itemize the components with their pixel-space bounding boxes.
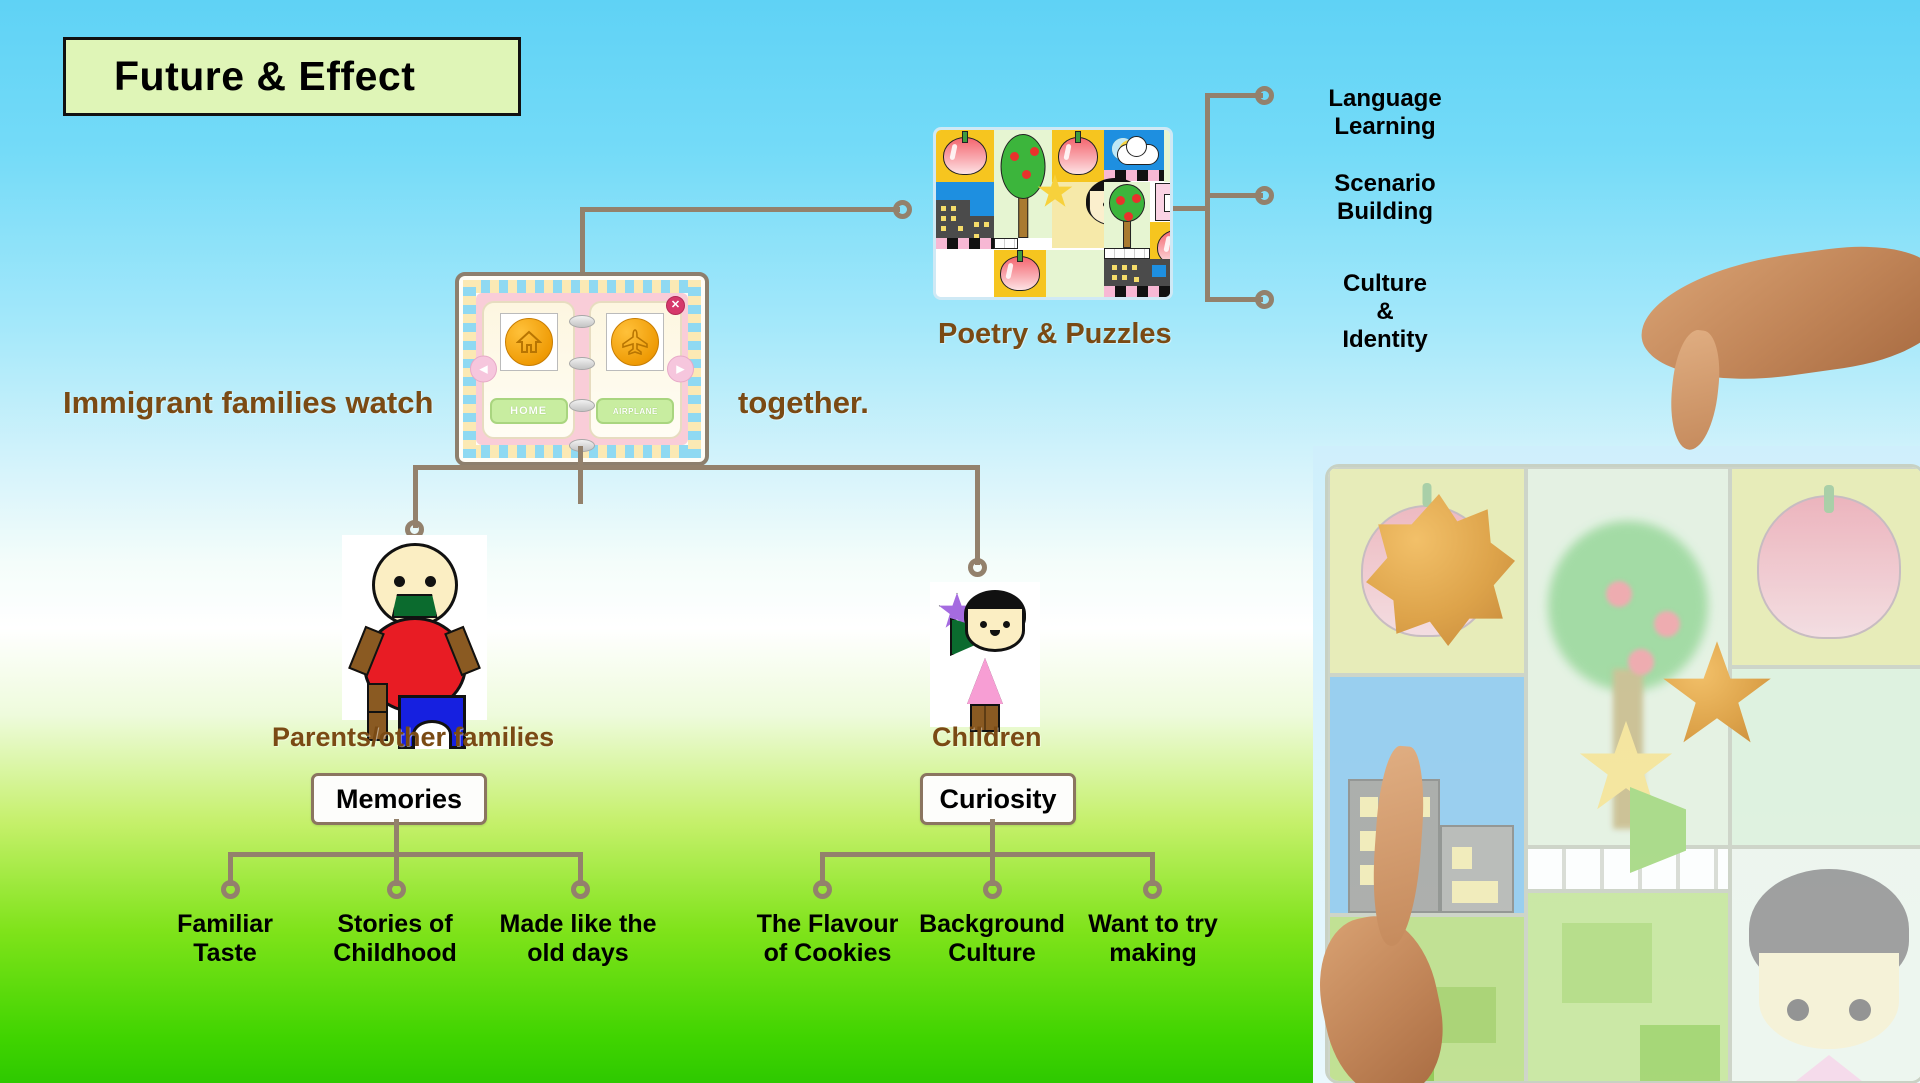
puzzle-road-1 xyxy=(936,238,994,249)
connector-parents-stem xyxy=(413,465,418,528)
connector-dot-cur-1 xyxy=(813,880,832,899)
photo-cell-green-2 xyxy=(1526,891,1730,1083)
outcome-culture-identity: Culture & Identity xyxy=(1305,270,1465,354)
connector-dot-cur-2 xyxy=(983,880,1002,899)
curiosity-leaf-2: Background Culture xyxy=(912,910,1072,969)
book-border-top xyxy=(463,280,701,293)
memories-node[interactable]: Memories xyxy=(311,773,487,825)
photo-cell-tree xyxy=(1526,467,1730,847)
puzzle-tile-apple-1 xyxy=(936,130,994,182)
puzzle-tile-apple-4 xyxy=(994,250,1046,297)
home-card-label: HOME xyxy=(490,398,568,424)
connector-dot-mem-2 xyxy=(387,880,406,899)
connector-dot-puzzle xyxy=(893,200,912,219)
outcome-language-learning: Language Learning xyxy=(1305,85,1465,141)
connector-memories-bar xyxy=(228,852,582,857)
home-icon xyxy=(505,318,553,366)
sentence-right: together. xyxy=(738,385,869,421)
puzzle-tile-crossing-2 xyxy=(994,238,1018,250)
photo-cell-crossing xyxy=(1526,847,1730,891)
puzzle-tile-city-right xyxy=(1104,259,1173,297)
parent-leg-upper xyxy=(367,683,388,713)
connector-dot-outcome-2 xyxy=(1255,186,1274,205)
curiosity-node[interactable]: Curiosity xyxy=(920,773,1076,825)
children-label: Children xyxy=(932,722,1042,753)
memories-leaf-1: Familiar Taste xyxy=(150,910,300,969)
memories-label: Memories xyxy=(336,784,462,815)
puzzle-tile-white xyxy=(936,249,994,297)
book-inner-page: HOME AIRPLANE ◀ xyxy=(476,293,688,445)
photo-cell-kid xyxy=(1730,847,1920,1083)
picture-book-illustration[interactable]: HOME AIRPLANE ◀ xyxy=(455,272,709,466)
page-title: Future & Effect xyxy=(66,53,415,100)
puzzle-tile-house xyxy=(1150,182,1173,222)
cookie-activity-photo xyxy=(1313,446,1920,1083)
page-title-box: Future & Effect xyxy=(63,37,521,116)
photo-cell-green xyxy=(1730,667,1920,847)
connector-book-down xyxy=(578,446,583,504)
book-prev-button[interactable]: ◀ xyxy=(470,356,497,383)
connector-dot-outcome-1 xyxy=(1255,86,1274,105)
child-head xyxy=(964,590,1028,638)
chevron-right-icon: ▶ xyxy=(676,363,684,376)
connector-dot-mem-1 xyxy=(221,880,240,899)
connector-curiosity-stem xyxy=(990,819,995,852)
connector-branch-bar xyxy=(413,465,979,470)
parents-figure-card xyxy=(342,535,487,720)
parent-head xyxy=(372,543,458,627)
connector-children-stem xyxy=(975,465,980,565)
outcome-scenario-building: Scenario Building xyxy=(1305,170,1465,226)
connector-dot-children xyxy=(968,558,987,577)
airplane-card-label: AIRPLANE xyxy=(596,398,674,424)
connector-book-corner xyxy=(580,207,585,221)
sentence-left: Immigrant families watch xyxy=(63,385,433,421)
home-card-thumb xyxy=(500,313,558,371)
memories-leaf-2: Stories of Childhood xyxy=(315,910,475,969)
child-dress xyxy=(967,658,1003,704)
connector-curiosity-bar xyxy=(820,852,1155,857)
connector-puzzle-out xyxy=(1173,206,1208,211)
diagram-canvas: Future & Effect Language Learning Scenar… xyxy=(0,0,1920,1083)
connector-memories-stem xyxy=(394,819,399,852)
airplane-icon xyxy=(611,318,659,366)
close-icon[interactable]: ✕ xyxy=(666,296,685,315)
book-spiral-binding xyxy=(569,315,595,453)
memories-leaf-3: Made like the old days xyxy=(483,910,673,969)
puzzle-crossing-3 xyxy=(1104,248,1150,259)
puzzle-tile-apple-2 xyxy=(1052,130,1104,182)
connector-book-up xyxy=(580,218,585,274)
puzzle-tile-green-2 xyxy=(1046,250,1104,297)
poetry-puzzles-label: Poetry & Puzzles xyxy=(938,318,1172,351)
connector-book-to-puzzle xyxy=(580,207,900,212)
photo-cell-apple-2 xyxy=(1730,467,1920,667)
connector-dot-outcome-3 xyxy=(1255,290,1274,309)
photo-cell-city xyxy=(1328,675,1526,915)
parents-label: Parents/other families xyxy=(272,722,554,753)
puzzle-tile-green-1 xyxy=(1164,130,1173,182)
poetry-puzzles-illustration[interactable] xyxy=(933,127,1173,300)
chevron-left-icon: ◀ xyxy=(479,363,487,376)
connector-dot-cur-3 xyxy=(1143,880,1162,899)
children-figure-card xyxy=(930,582,1040,727)
curiosity-leaf-1: The Flavour of Cookies xyxy=(740,910,915,969)
curiosity-leaf-3: Want to try making xyxy=(1073,910,1233,969)
puzzle-tile-tree-2 xyxy=(1104,182,1150,248)
airplane-card-thumb xyxy=(606,313,664,371)
book-next-button[interactable]: ▶ xyxy=(667,356,694,383)
puzzle-tile-moon-cloud xyxy=(1104,130,1164,170)
connector-dot-mem-3 xyxy=(571,880,590,899)
curiosity-label: Curiosity xyxy=(939,784,1056,815)
